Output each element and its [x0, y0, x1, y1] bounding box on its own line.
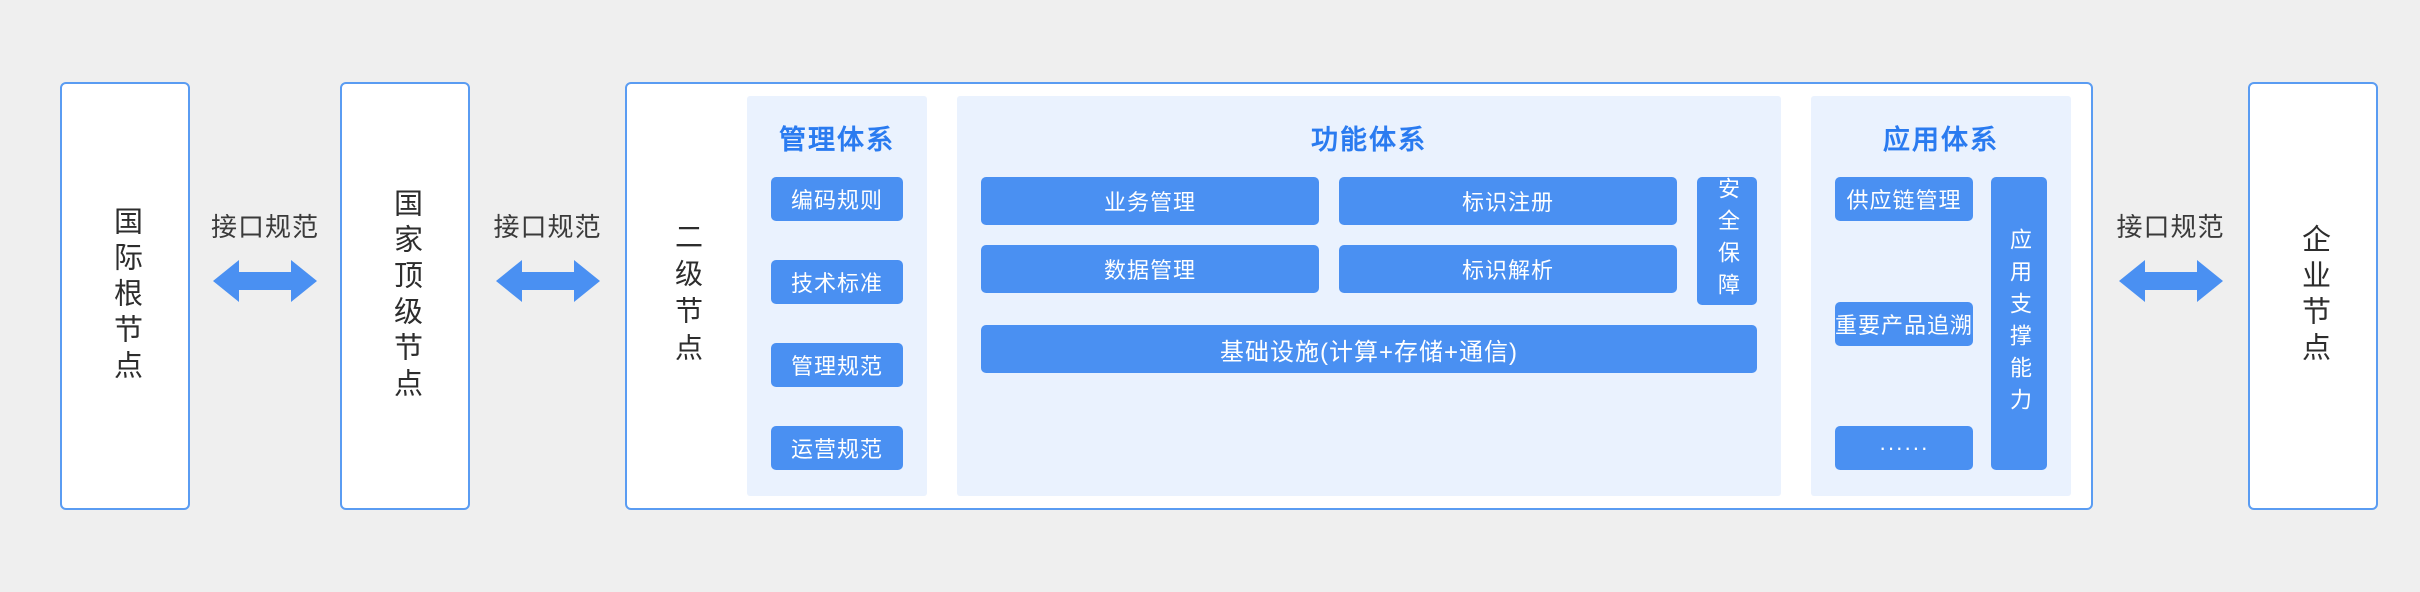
chip-application-support-label: 应用支撑能力 — [2008, 228, 2030, 420]
chip-identifier-registration[interactable]: 标识注册 — [1339, 177, 1677, 225]
chip-application-support[interactable]: 应用支撑能力 — [1991, 177, 2047, 470]
node-enterprise-label: 企业节点 — [2299, 224, 2328, 368]
diagram-canvas: 国际根节点 接口规范 国家顶级节点 接口规范 二级节点 管理体系 编码规 — [0, 0, 2420, 592]
panel-management-body: 编码规则 技术标准 管理规范 运营规范 — [771, 177, 903, 470]
node-international-root[interactable]: 国际根节点 — [60, 82, 190, 510]
node-national-top[interactable]: 国家顶级节点 — [340, 82, 470, 510]
connector-left: 接口规范 — [190, 190, 340, 320]
panel-management: 管理体系 编码规则 技术标准 管理规范 运营规范 — [747, 96, 927, 496]
node-enterprise[interactable]: 企业节点 — [2248, 82, 2378, 510]
connector-right: 接口规范 — [2093, 190, 2248, 320]
connector-left-label: 接口规范 — [211, 207, 319, 244]
chip-supply-chain-management[interactable]: 供应链管理 — [1835, 177, 1973, 221]
node-secondary-label-wrap: 二级节点 — [627, 222, 747, 370]
chip-infrastructure[interactable]: 基础设施(计算+存储+通信) — [981, 325, 1757, 373]
chip-coding-rules[interactable]: 编码规则 — [771, 177, 903, 221]
panel-application-body: 供应链管理 重要产品追溯 ······ 应用支撑能力 — [1835, 177, 2047, 470]
panel-functional-body: 业务管理 标识注册 数据管理 标识解析 安全保障 — [981, 177, 1757, 470]
chip-identifier-resolution[interactable]: 标识解析 — [1339, 245, 1677, 293]
panel-functional-title: 功能体系 — [981, 118, 1757, 157]
panel-management-title: 管理体系 — [771, 118, 903, 157]
double-arrow-icon — [213, 258, 317, 304]
chip-technical-standard[interactable]: 技术标准 — [771, 260, 903, 304]
node-secondary-label: 二级节点 — [673, 222, 701, 370]
panel-functional: 功能体系 业务管理 标识注册 数据管理 标识解析 — [957, 96, 1781, 496]
double-arrow-icon — [496, 258, 600, 304]
chip-operation-spec[interactable]: 运营规范 — [771, 426, 903, 470]
chip-data-management[interactable]: 数据管理 — [981, 245, 1319, 293]
chip-more-ellipsis[interactable]: ······ — [1835, 426, 1973, 470]
chip-security-assurance[interactable]: 安全保障 — [1697, 177, 1757, 305]
connector-middle-label: 接口规范 — [493, 207, 601, 244]
double-arrow-icon — [2119, 258, 2223, 304]
chip-management-spec[interactable]: 管理规范 — [771, 343, 903, 387]
node-international-root-label: 国际根节点 — [111, 206, 140, 386]
node-secondary-container: 二级节点 管理体系 编码规则 技术标准 管理规范 运营规范 功能体系 — [625, 82, 2093, 510]
connector-middle: 接口规范 — [470, 190, 625, 320]
chip-security-assurance-label: 安全保障 — [1716, 177, 1738, 305]
connector-right-label: 接口规范 — [2116, 207, 2224, 244]
chip-product-traceability[interactable]: 重要产品追溯 — [1835, 302, 1973, 346]
panel-application-title: 应用体系 — [1835, 118, 2047, 157]
chip-business-management[interactable]: 业务管理 — [981, 177, 1319, 225]
panels-row: 管理体系 编码规则 技术标准 管理规范 运营规范 功能体系 — [747, 84, 2091, 508]
node-national-top-label: 国家顶级节点 — [391, 188, 420, 404]
panel-application: 应用体系 供应链管理 重要产品追溯 ······ 应用支撑能力 — [1811, 96, 2071, 496]
